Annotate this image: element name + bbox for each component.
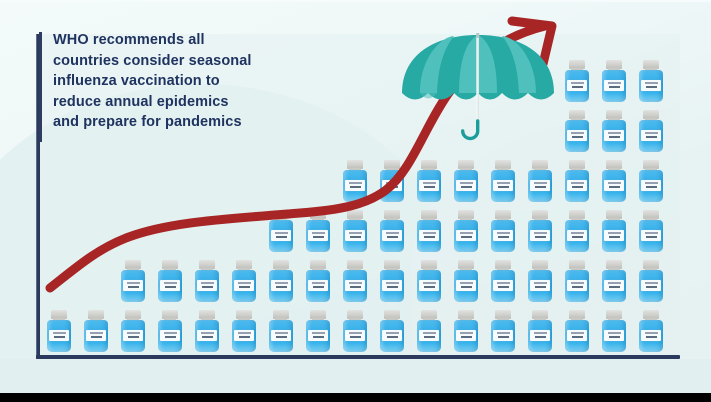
vaccine-vial-icon (527, 160, 553, 202)
vaccine-vial-icon (601, 210, 627, 252)
vial-label (382, 280, 402, 291)
vial-label (567, 80, 587, 91)
vaccine-vial-icon (638, 310, 664, 352)
vial-label (419, 230, 439, 241)
vial-label (345, 230, 365, 241)
page-title: WHO recommends all countries consider se… (53, 30, 252, 133)
vial-label (641, 130, 661, 141)
vial-label (567, 330, 587, 341)
vial-label (493, 180, 513, 191)
vial-label (456, 330, 476, 341)
vaccine-vial-icon (638, 110, 664, 152)
footer-black-strip (0, 393, 711, 402)
vaccine-vial-icon (601, 60, 627, 102)
vaccine-vial-icon (527, 260, 553, 302)
vial-label (308, 330, 328, 341)
vial-label (604, 280, 624, 291)
vial-label (271, 330, 291, 341)
headline-block: WHO recommends all countries consider se… (39, 30, 329, 142)
vaccine-vial-icon (416, 160, 442, 202)
vial-label (456, 280, 476, 291)
vaccine-vial-icon (416, 260, 442, 302)
vial-label (197, 280, 217, 291)
vaccine-vial-icon (379, 260, 405, 302)
vial-label (345, 280, 365, 291)
vial-label (493, 230, 513, 241)
vial-label (197, 330, 217, 341)
vaccine-vial-icon (379, 210, 405, 252)
vaccine-vial-icon (453, 260, 479, 302)
vaccine-vial-icon (601, 160, 627, 202)
vaccine-vial-icon (416, 210, 442, 252)
vial-label (308, 280, 328, 291)
vaccine-vial-icon (342, 210, 368, 252)
vial-label (382, 180, 402, 191)
vaccine-vial-icon (194, 310, 220, 352)
infographic-canvas: WHO recommends all countries consider se… (0, 0, 711, 402)
vaccine-vial-icon (601, 260, 627, 302)
vaccine-vial-icon (453, 310, 479, 352)
vial-label (530, 180, 550, 191)
vaccine-vial-icon (342, 310, 368, 352)
vaccine-vial-icon (527, 310, 553, 352)
vial-label (123, 330, 143, 341)
vial-label (49, 330, 69, 341)
vaccine-vial-icon (305, 260, 331, 302)
vaccine-vial-icon (379, 310, 405, 352)
vaccine-vial-icon (305, 310, 331, 352)
vaccine-vial-icon (564, 260, 590, 302)
vaccine-vial-icon (157, 310, 183, 352)
vaccine-vial-icon (564, 310, 590, 352)
vaccine-vial-icon (564, 60, 590, 102)
vial-label (493, 330, 513, 341)
vaccine-vial-icon (83, 310, 109, 352)
vial-label (567, 130, 587, 141)
vial-label (604, 80, 624, 91)
vaccine-vial-icon (231, 310, 257, 352)
headline-accent-bar (39, 32, 42, 142)
vial-label (604, 180, 624, 191)
vaccine-vial-icon (416, 310, 442, 352)
vial-label (456, 180, 476, 191)
vaccine-vial-icon (120, 260, 146, 302)
vaccine-vial-icon (601, 310, 627, 352)
vial-label (271, 230, 291, 241)
footer-band (0, 359, 711, 393)
vaccine-vial-icon (268, 310, 294, 352)
vial-label (493, 280, 513, 291)
vaccine-vial-icon (638, 210, 664, 252)
vial-label (160, 280, 180, 291)
vial-label (419, 180, 439, 191)
vial-label (345, 180, 365, 191)
vial-label (530, 280, 550, 291)
vial-label (567, 230, 587, 241)
vaccine-vial-icon (564, 110, 590, 152)
vaccine-vial-icon (638, 260, 664, 302)
vial-label (234, 280, 254, 291)
vial-label (530, 330, 550, 341)
vaccine-vial-icon (453, 210, 479, 252)
vial-label (419, 280, 439, 291)
vial-label (530, 230, 550, 241)
vial-label (419, 330, 439, 341)
vaccine-vial-icon (194, 260, 220, 302)
vial-label (234, 330, 254, 341)
vaccine-vial-icon (342, 260, 368, 302)
vaccine-vial-icon (46, 310, 72, 352)
vial-label (382, 230, 402, 241)
vaccine-vial-icon (157, 260, 183, 302)
vial-label (271, 280, 291, 291)
vial-label (345, 330, 365, 341)
y-axis-highlight (36, 34, 37, 359)
top-edge-strip (0, 0, 711, 2)
vaccine-vial-icon (564, 210, 590, 252)
vaccine-vial-icon (379, 160, 405, 202)
vial-label (160, 330, 180, 341)
vial-label (604, 230, 624, 241)
vial-label (456, 230, 476, 241)
vial-label (123, 280, 143, 291)
vaccine-vial-icon (268, 210, 294, 252)
vaccine-vial-icon (231, 260, 257, 302)
vaccine-vial-icon (490, 210, 516, 252)
vial-label (86, 330, 106, 341)
vial-label (641, 180, 661, 191)
vial-label (641, 280, 661, 291)
vaccine-vial-icon (490, 260, 516, 302)
vial-label (308, 230, 328, 241)
vial-label (604, 130, 624, 141)
vaccine-vial-icon (601, 110, 627, 152)
umbrella-icon (398, 33, 558, 145)
vaccine-vial-icon (453, 160, 479, 202)
vaccine-vial-icon (490, 310, 516, 352)
vial-label (567, 180, 587, 191)
vial-label (641, 80, 661, 91)
vaccine-vial-icon (120, 310, 146, 352)
vaccine-vial-icon (527, 210, 553, 252)
vial-label (641, 230, 661, 241)
vaccine-vial-icon (490, 160, 516, 202)
vaccine-vial-icon (268, 260, 294, 302)
vaccine-vial-icon (638, 160, 664, 202)
vaccine-vial-icon (638, 60, 664, 102)
vial-label (382, 330, 402, 341)
vial-label (567, 280, 587, 291)
vial-label (604, 330, 624, 341)
vaccine-vial-icon (564, 160, 590, 202)
vial-label (641, 330, 661, 341)
vaccine-vial-icon (305, 210, 331, 252)
vaccine-vial-icon (342, 160, 368, 202)
